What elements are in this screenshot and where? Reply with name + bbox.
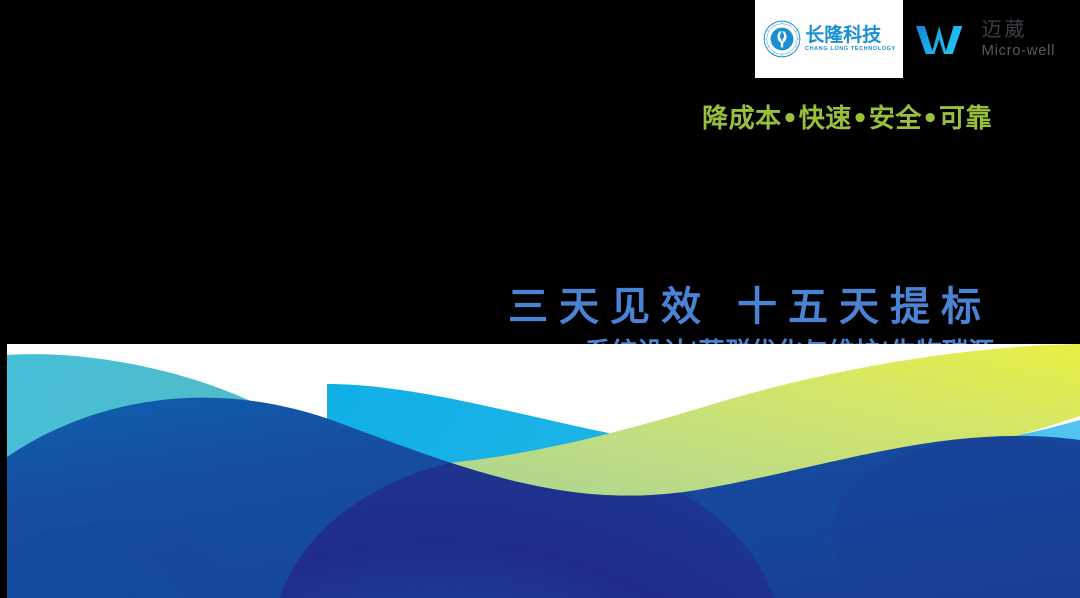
changlong-name-cn: 长隆科技 [805, 26, 894, 45]
wave-artwork [0, 344, 1080, 598]
changlong-logo: 长隆科技 CHANG LONG TECHNOLOGY [755, 0, 903, 78]
microwell-name-en: Micro-well [982, 43, 1056, 59]
microwell-logo: 迈葳 Micro-well [915, 0, 1056, 78]
logo-bar: 长隆科技 CHANG LONG TECHNOLOGY 迈葳 M [755, 0, 1055, 80]
changlong-name-en: CHANG LONG TECHNOLOGY [805, 47, 896, 52]
slide-canvas: 长隆科技 CHANG LONG TECHNOLOGY 迈葳 M [0, 0, 1080, 598]
changlong-emblem-icon [763, 20, 801, 58]
wave-artwork-svg [7, 344, 1080, 598]
microwell-name-cn: 迈葳 [982, 19, 1056, 40]
microwell-wordmark: 迈葳 Micro-well [982, 19, 1056, 59]
headline-main: 三天见效 十五天提标 [508, 284, 994, 331]
microwell-zigzag-wave-icon [915, 18, 973, 60]
tagline-text: 降成本•快速•安全•可靠 [702, 98, 992, 135]
changlong-wordmark: 长隆科技 CHANG LONG TECHNOLOGY [805, 26, 894, 52]
